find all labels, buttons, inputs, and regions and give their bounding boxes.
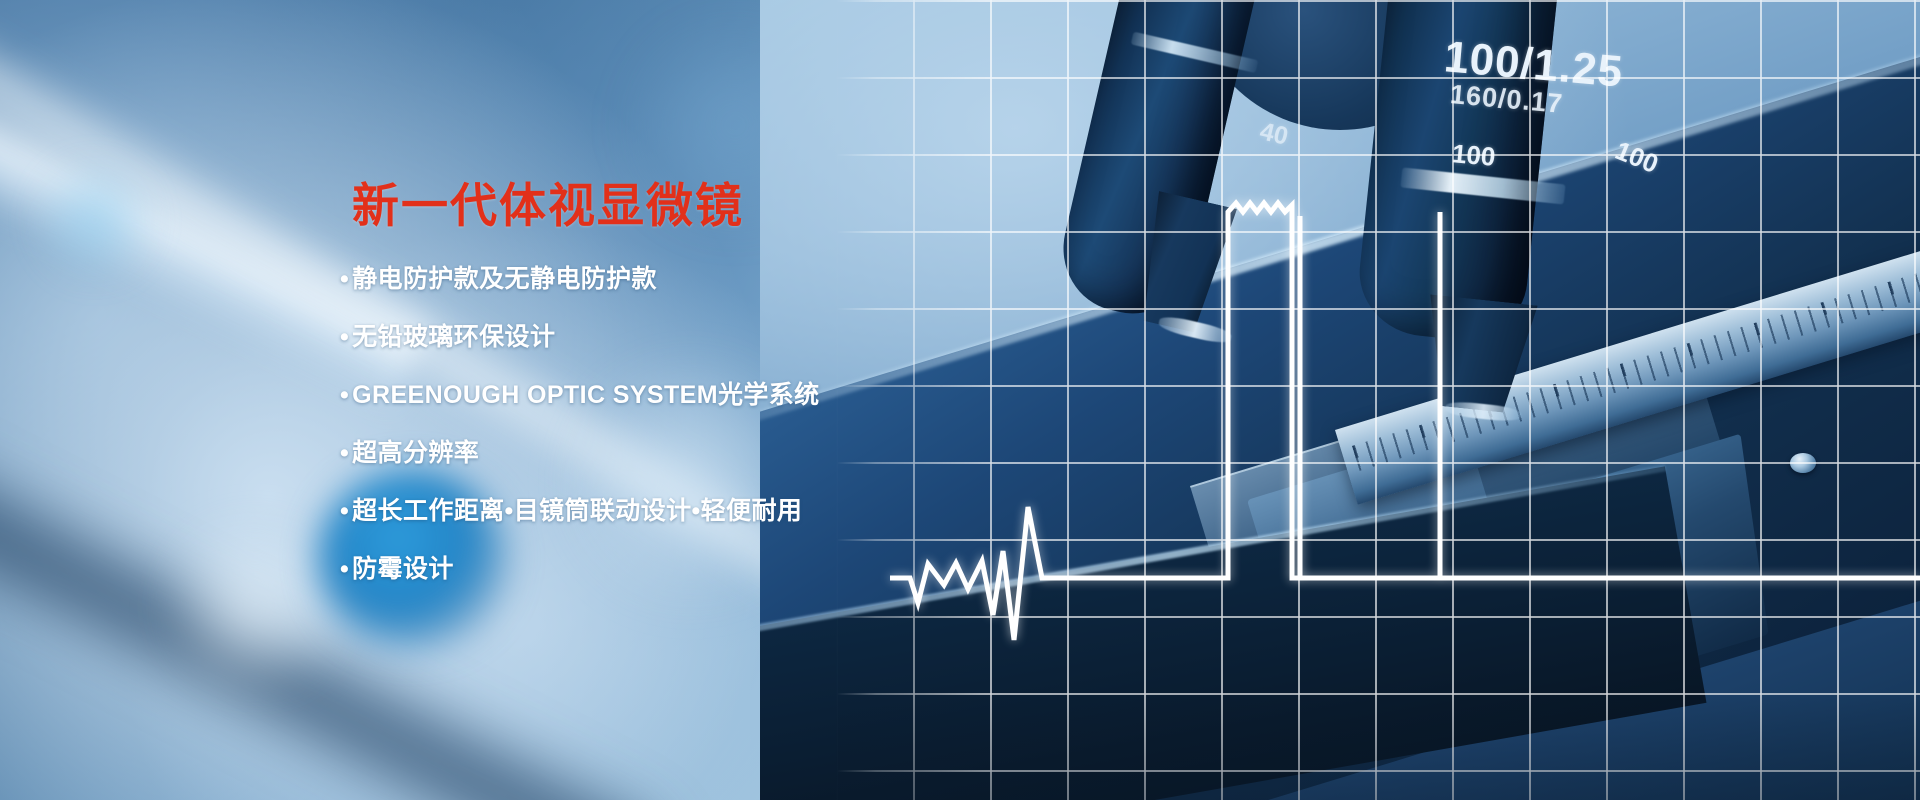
bullet-marker-icon: • — [340, 557, 349, 582]
banner-root: POLLEN GUARD 40 100/1.25 160/0.17 100 10… — [0, 0, 1920, 800]
bullet-marker-icon: • — [340, 325, 349, 350]
bokeh-highlight — [30, 160, 160, 280]
bullet-marker-icon: • — [340, 267, 349, 292]
feature-bullet: • 超高分辨率 — [340, 433, 980, 469]
page-title: 新一代体视显微镜 — [352, 178, 980, 233]
feature-bullet-label: 静电防护款及无静电防护款 — [352, 259, 657, 295]
feature-bullet-label: 超长工作距离•目镜筒联动设计•轻便耐用 — [352, 491, 802, 527]
feature-bullet: • 无铅玻璃环保设计 — [340, 317, 980, 353]
feature-bullet: • GREENOUGH OPTIC SYSTEM光学系统 — [340, 375, 980, 411]
bullet-marker-icon: • — [340, 499, 349, 524]
feature-bullet-label: 防霉设计 — [352, 549, 454, 585]
copy-block: 新一代体视显微镜 • 静电防护款及无静电防护款 • 无铅玻璃环保设计 • GRE… — [340, 178, 980, 607]
feature-bullet: • 超长工作距离•目镜筒联动设计•轻便耐用 — [340, 491, 980, 527]
feature-bullet-label: 超高分辨率 — [352, 433, 479, 469]
feature-bullet-label: 无铅玻璃环保设计 — [352, 317, 555, 353]
technical-grid-overlay — [836, 0, 1920, 800]
feature-bullet: • 静电防护款及无静电防护款 — [340, 259, 980, 295]
feature-bullet-label: GREENOUGH OPTIC SYSTEM光学系统 — [352, 375, 819, 411]
bullet-marker-icon: • — [340, 383, 349, 408]
bullet-marker-icon: • — [340, 441, 349, 466]
feature-bullet: • 防霉设计 — [340, 549, 980, 585]
